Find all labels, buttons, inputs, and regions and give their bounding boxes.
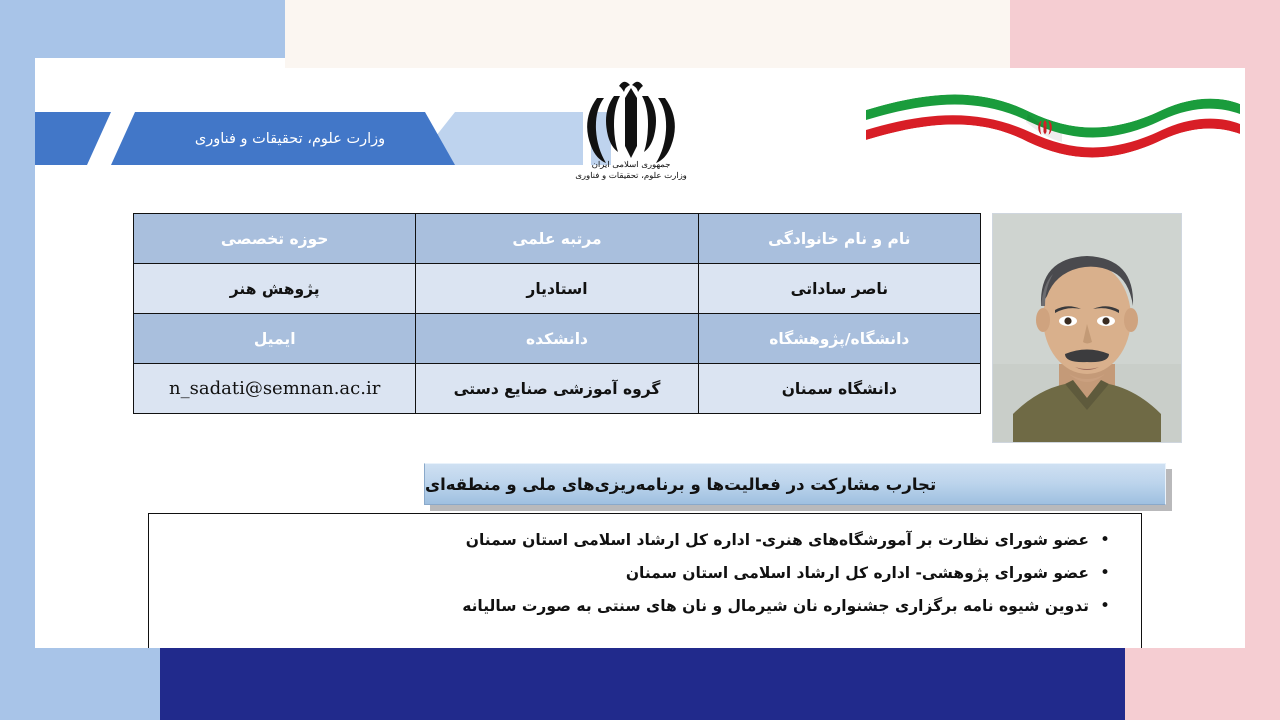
bullet-marker-icon: • — [1095, 563, 1115, 583]
table-header-academic-rank: مرتبه علمی — [416, 214, 698, 264]
table-header-university: دانشگاه/پژوهشگاه — [698, 314, 980, 364]
table-header-faculty: دانشکده — [416, 314, 698, 364]
list-item-text: عضو شورای نظارت بر آمورشگاه‌های هنری- اد… — [175, 530, 1095, 550]
table-value-email: n_sadati@semnan.ac.ir — [134, 364, 416, 414]
ministry-banner: وزارت علوم، تحقیقات و فناوری — [35, 112, 620, 165]
bullet-marker-icon: • — [1095, 596, 1115, 616]
table-value-fullname: ناصر ساداتی — [698, 264, 980, 314]
portrait-photo — [992, 213, 1182, 443]
bullet-marker-icon: • — [1095, 530, 1115, 550]
list-item-text: تدوین شیوه نامه برگزاری جشنواره نان شیرم… — [175, 596, 1095, 616]
background-block-cream — [285, 0, 1010, 75]
ministry-banner-label: وزارت علوم، تحقیقات و فناوری — [165, 112, 415, 165]
iran-flag-ribbon-icon — [862, 82, 1244, 174]
experience-list-box: • عضو شورای نظارت بر آمورشگاه‌های هنری- … — [148, 513, 1142, 648]
table-header-fullname: نام و نام خانوادگی — [698, 214, 980, 264]
emblem-caption: جمهوری اسلامی ایران وزارت علوم، تحقیقات … — [556, 160, 706, 196]
faculty-info-table: نام و نام خانوادگی مرتبه علمی حوزه تخصصی… — [133, 213, 981, 414]
table-value-specialty-field: پژوهش هنر — [134, 264, 416, 314]
list-item-text: عضو شورای پژوهشی- اداره کل ارشاد اسلامی … — [175, 563, 1095, 583]
iran-national-emblem-icon: جمهوری اسلامی ایران وزارت علوم، تحقیقات … — [556, 76, 706, 196]
background-strip-left-blue — [0, 0, 35, 720]
table-value-university: دانشگاه سمنان — [698, 364, 980, 414]
table-value-faculty: گروه آموزشی صنایع دستی — [416, 364, 698, 414]
emblem-caption-line1: جمهوری اسلامی ایران — [592, 160, 671, 170]
background-block-top-left-blue — [0, 0, 285, 58]
table-header-email: ایمیل — [134, 314, 416, 364]
list-item: • عضو شورای پژوهشی- اداره کل ارشاد اسلام… — [175, 563, 1115, 583]
section-heading-banner: تجارب مشارکت در فعالیت‌ها و برنامه‌ریزی‌… — [424, 463, 1172, 508]
table-row-header-1: نام و نام خانوادگی مرتبه علمی حوزه تخصصی — [134, 214, 981, 264]
list-item: • تدوین شیوه نامه برگزاری جشنواره نان شی… — [175, 596, 1115, 616]
table-row-header-2: دانشگاه/پژوهشگاه دانشکده ایمیل — [134, 314, 981, 364]
emblem-caption-line2: وزارت علوم، تحقیقات و فناوری — [575, 171, 687, 181]
background-block-bottom-left-blue — [0, 648, 160, 720]
table-value-academic-rank: استادیار — [416, 264, 698, 314]
table-row-values-2: دانشگاه سمنان گروه آموزشی صنایع دستی n_s… — [134, 364, 981, 414]
table-row-values-1: ناصر ساداتی استادیار پژوهش هنر — [134, 264, 981, 314]
section-heading-bar: تجارب مشارکت در فعالیت‌ها و برنامه‌ریزی‌… — [424, 463, 1166, 505]
list-item: • عضو شورای نظارت بر آمورشگاه‌های هنری- … — [175, 530, 1115, 550]
section-heading-title: تجارب مشارکت در فعالیت‌ها و برنامه‌ریزی‌… — [425, 475, 936, 494]
table-header-specialty-field: حوزه تخصصی — [134, 214, 416, 264]
background-strip-bottom-navy — [160, 648, 1125, 720]
slide-root: وزارت علوم، تحقیقات و فناوری جمهوری اس — [0, 0, 1280, 720]
